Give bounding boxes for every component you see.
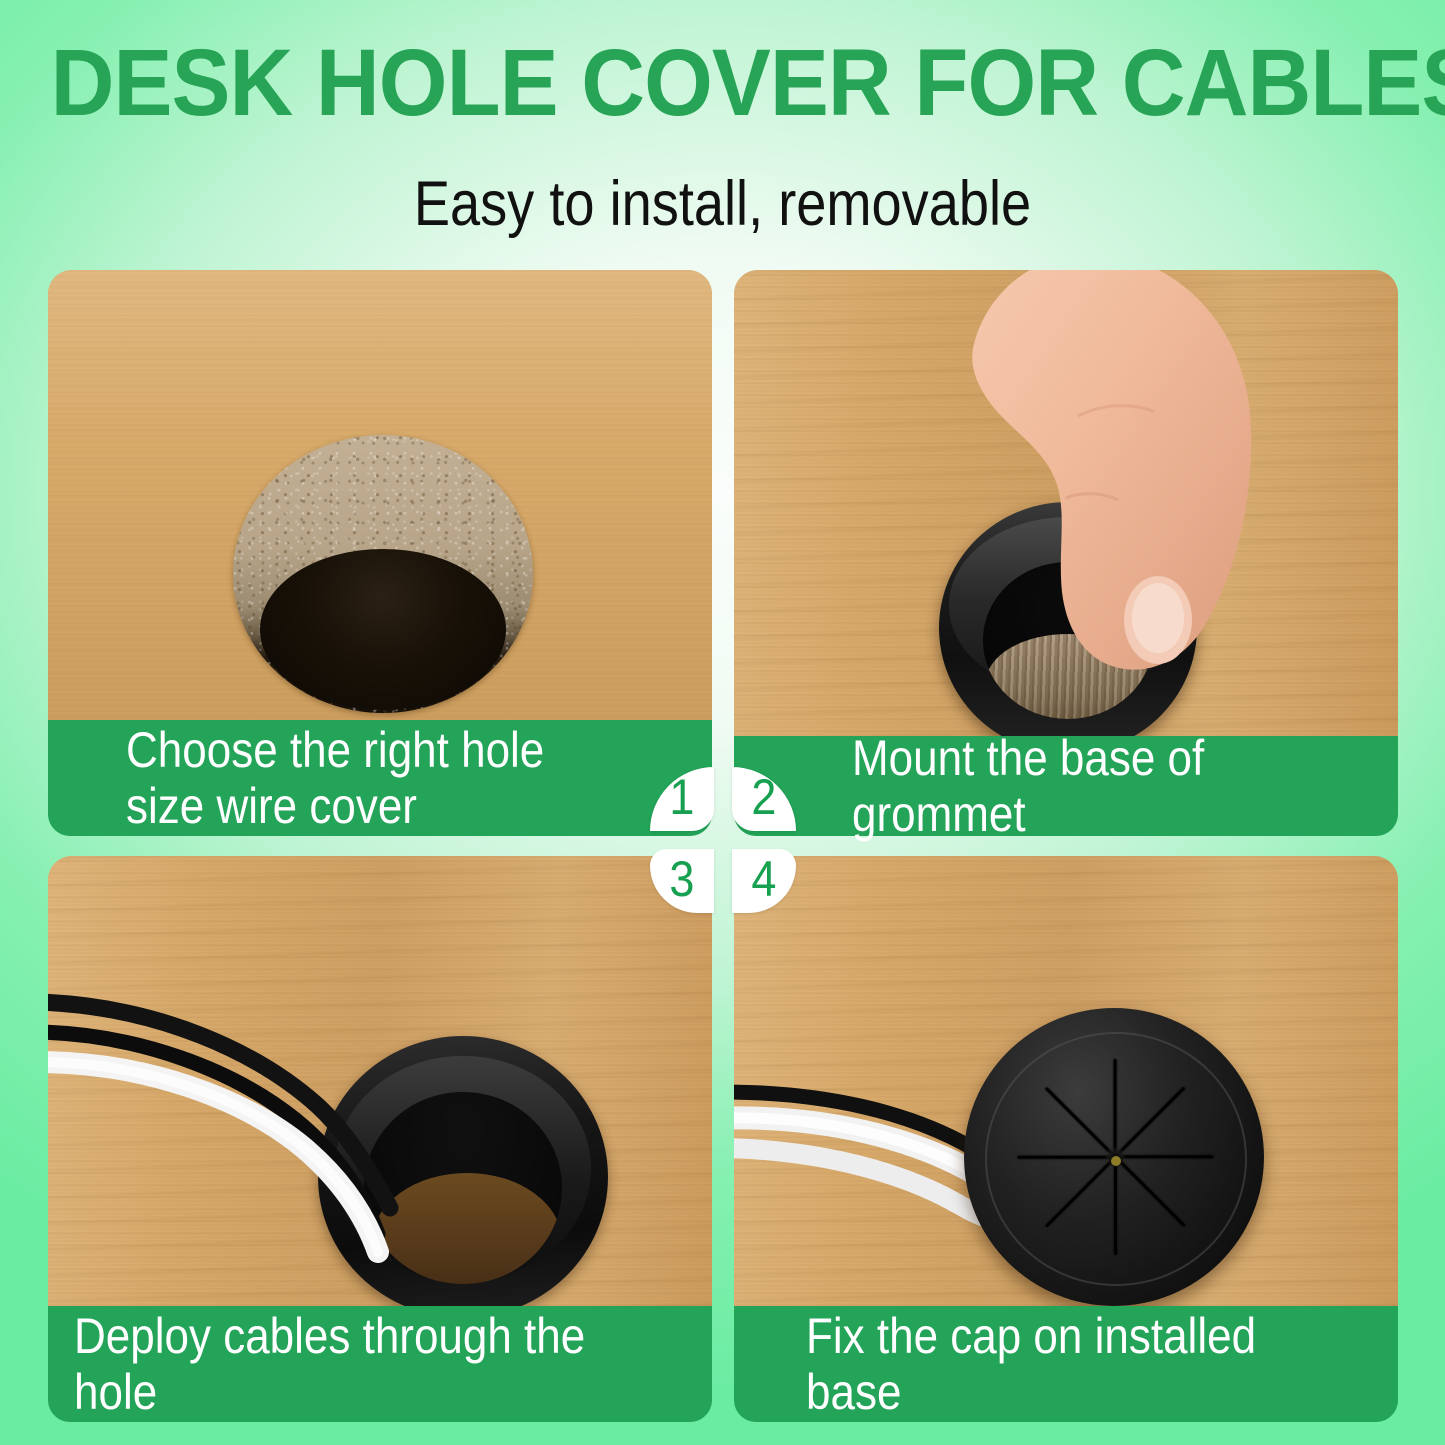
step-number-1: 1 [650,767,714,831]
step-3-caption-text: Deploy cables through the hole [74,1308,635,1420]
cap-center-hub [1111,1156,1121,1166]
grommet-base [939,502,1197,754]
hole-floor [372,1173,561,1284]
cap-slit [1045,1087,1116,1158]
infographic-canvas: DESK HOLE COVER FOR CABLES Easy to insta… [0,0,1445,1445]
step-number-badge: 1 2 3 4 [650,767,796,913]
page-subtitle: Easy to install, removable [101,168,1344,240]
grommet-bore [364,1092,561,1284]
cap-slit [1114,1156,1185,1227]
step-3-caption: Deploy cables through the hole [48,1306,712,1422]
cap-slit [1017,1156,1115,1159]
step-4-caption: Fix the cap on installed base [734,1306,1398,1422]
grommet-bore [983,562,1153,718]
installed-grommet-base [318,1036,608,1318]
step-number-3: 3 [650,849,714,913]
step-1-caption-text: Choose the right hole size wire cover [126,722,544,834]
step-number-4: 4 [732,849,796,913]
grommet-cap [964,1008,1264,1306]
step-2-caption-text: Mount the base of grommet [852,730,1332,842]
hole-inner-wall [986,634,1149,718]
step-1-caption: Choose the right hole size wire cover [48,720,712,836]
step-4-caption-text: Fix the cap on installed base [806,1308,1327,1420]
step-2-caption: Mount the base of grommet [734,736,1398,836]
step-number-2: 2 [732,767,796,831]
cap-slit [1045,1156,1116,1227]
cap-slit [1115,1156,1213,1159]
cap-slit [1114,1157,1117,1255]
hole-cavity-shadow [260,549,506,710]
cap-slit [1114,1087,1185,1158]
page-title: DESK HOLE COVER FOR CABLES [51,34,1395,132]
cap-slit [1114,1059,1117,1157]
drilled-hole [233,435,533,713]
